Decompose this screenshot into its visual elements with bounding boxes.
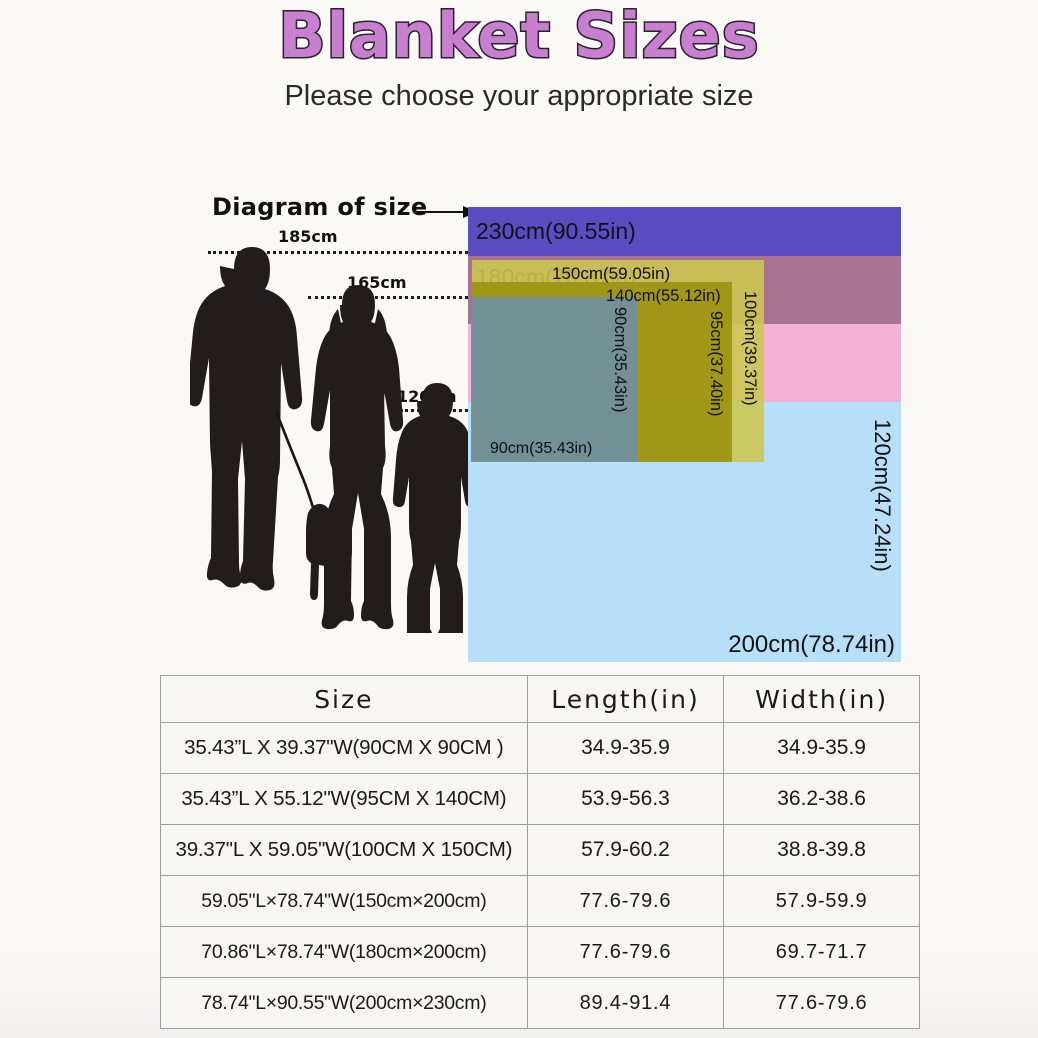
family-silhouette-group xyxy=(190,233,480,633)
page-title: Blanket Sizes xyxy=(0,0,1038,70)
cell-length: 57.9-60.2 xyxy=(527,825,724,876)
table-row[interactable]: 39.37"L X 59.05"W(100CM X 150CM) 57.9-60… xyxy=(161,825,920,876)
cell-width: 77.6-79.6 xyxy=(724,978,920,1029)
size-table-head: Size Length(in) Width(in) xyxy=(161,676,920,723)
rect-label-95cm-side: 95cm(37.40in) xyxy=(706,311,725,416)
cell-length: 34.9-35.9 xyxy=(527,723,724,774)
table-row[interactable]: 78.74"L×90.55"W(200cm×230cm) 89.4-91.4 7… xyxy=(161,978,920,1029)
column-header-length: Length(in) xyxy=(527,676,724,723)
leash xyxy=(276,411,314,511)
cell-width: 57.9-59.9 xyxy=(724,876,920,927)
cell-size: 35.43”L X 39.37"W(90CM X 90CM ) xyxy=(161,723,528,774)
rect-label-90cm-side: 90cm(35.43in) xyxy=(610,307,629,412)
page-subtitle: Please choose your appropriate size xyxy=(0,70,1038,113)
cell-length: 89.4-91.4 xyxy=(527,978,724,1029)
rect-label-140cm-top: 140cm(55.12in) xyxy=(606,287,721,306)
table-row[interactable]: 35.43”L X 39.37"W(90CM X 90CM ) 34.9-35.… xyxy=(161,723,920,774)
rect-label-100cm-side: 100cm(39.37in) xyxy=(740,291,759,406)
woman-silhouette xyxy=(311,285,403,629)
cell-size: 35.43”L X 55.12"W(95CM X 140CM) xyxy=(161,774,528,825)
table-row[interactable]: 59.05"L×78.74"W(150cm×200cm) 77.6-79.6 5… xyxy=(161,876,920,927)
cell-size: 70.86"L×78.74"W(180cm×200cm) xyxy=(161,927,528,978)
column-header-size: Size xyxy=(161,676,528,723)
cell-size: 39.37"L X 59.05"W(100CM X 150CM) xyxy=(161,825,528,876)
table-row[interactable]: 35.43”L X 55.12"W(95CM X 140CM) 53.9-56.… xyxy=(161,774,920,825)
diagram-of-size-label: Diagram of size xyxy=(212,193,427,221)
cell-width: 38.8-39.8 xyxy=(724,825,920,876)
child-silhouette xyxy=(393,383,477,633)
rect-label-150cm-top: 150cm(59.05in) xyxy=(552,264,670,284)
cell-width: 34.9-35.9 xyxy=(724,723,920,774)
rect-label-90cm-bottom: 90cm(35.43in) xyxy=(490,440,592,458)
cell-length: 77.6-79.6 xyxy=(527,876,724,927)
cell-width: 36.2-38.6 xyxy=(724,774,920,825)
size-diagram: Diagram of size 185cm 165cm 120cm xyxy=(150,185,906,665)
cell-size: 78.74"L×90.55"W(200cm×230cm) xyxy=(161,978,528,1029)
band-side-label-120cm: 120cm(47.24in) xyxy=(869,419,895,572)
table-row[interactable]: 70.86"L×78.74"W(180cm×200cm) 77.6-79.6 6… xyxy=(161,927,920,978)
size-table: Size Length(in) Width(in) 35.43”L X 39.3… xyxy=(160,675,920,1029)
table-header-row: Size Length(in) Width(in) xyxy=(161,676,920,723)
band-bottom-label-200cm: 200cm(78.74in) xyxy=(728,631,895,659)
header: Blanket Sizes Please choose your appropr… xyxy=(0,0,1038,113)
cell-length: 53.9-56.3 xyxy=(527,774,724,825)
man-silhouette xyxy=(190,247,302,591)
blanket-size-bands: 230cm(90.55in) 180cm(70.87in) 150cm(59.0… xyxy=(468,207,901,662)
cell-size: 59.05"L×78.74"W(150cm×200cm) xyxy=(161,876,528,927)
column-header-width: Width(in) xyxy=(724,676,920,723)
cell-length: 77.6-79.6 xyxy=(527,927,724,978)
size-table-body: 35.43”L X 39.37"W(90CM X 90CM ) 34.9-35.… xyxy=(161,723,920,1029)
page-root: Blanket Sizes Please choose your appropr… xyxy=(0,0,1038,1038)
band-label-230cm: 230cm(90.55in) xyxy=(476,218,636,245)
cell-width: 69.7-71.7 xyxy=(724,927,920,978)
